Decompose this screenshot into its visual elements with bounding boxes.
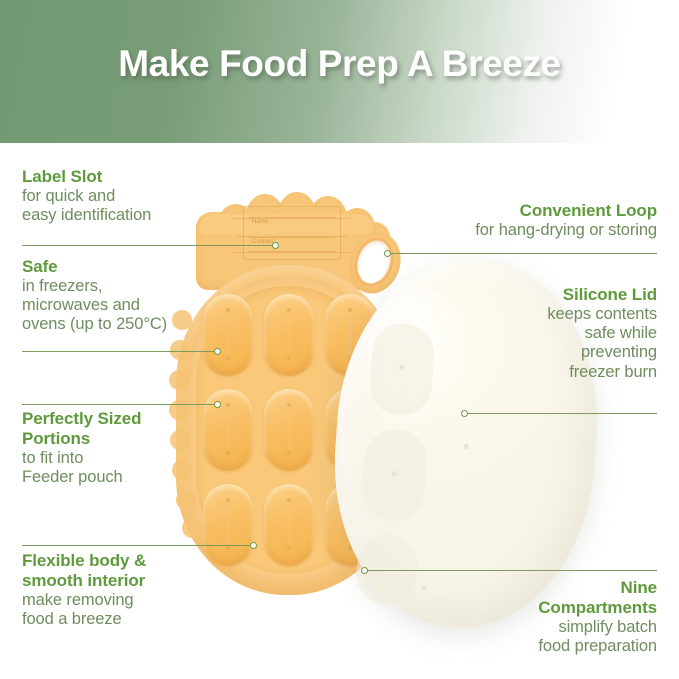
callout-title: Nine — [357, 578, 657, 598]
compartment-cell — [264, 294, 314, 376]
callout-convenient-loop: Convenient Loop for hang-drying or stori… — [357, 201, 657, 240]
callout-silicone-lid: Silicone Lid keeps contents safe while p… — [357, 285, 657, 382]
leader-dot-lid — [461, 410, 468, 417]
callout-line: for quick and — [22, 187, 252, 206]
callout-flexible-body: Flexible body & smooth interior make rem… — [22, 551, 262, 629]
callout-title-2: Compartments — [357, 598, 657, 618]
compartment-cell — [264, 389, 314, 471]
callout-line: ovens (up to 250°C) — [22, 315, 262, 334]
callout-safe: Safe in freezers, microwaves and ovens (… — [22, 257, 262, 335]
callout-line: simplify batch — [357, 618, 657, 637]
label-slot-name-text: Name — [252, 219, 268, 225]
leader-line-compartments — [366, 570, 657, 571]
callout-title-2: Portions — [22, 429, 262, 449]
callout-line: safe while — [357, 324, 657, 343]
leader-dot-loop — [384, 250, 391, 257]
leader-dot-label-slot — [272, 242, 279, 249]
callout-label-slot: Label Slot for quick and easy identifica… — [22, 167, 252, 225]
callout-line: make removing — [22, 591, 262, 610]
callout-title: Convenient Loop — [357, 201, 657, 221]
callout-nine-compartments: Nine Compartments simplify batch food pr… — [357, 578, 657, 656]
leader-dot-compartments — [361, 567, 368, 574]
leader-line-loop — [388, 253, 657, 254]
infographic-canvas: Make Food Prep A Breeze Name Content — [0, 0, 679, 679]
callout-title: Flexible body & — [22, 551, 262, 571]
leader-line-flexible — [22, 545, 254, 546]
leader-line-lid — [466, 413, 657, 414]
callout-line: food preparation — [357, 637, 657, 656]
callout-line: to fit into — [22, 449, 262, 468]
leader-line-portions — [22, 404, 218, 405]
callout-line: easy identification — [22, 206, 252, 225]
callout-title: Perfectly Sized — [22, 409, 262, 429]
callout-line: microwaves and — [22, 296, 262, 315]
callout-line: Feeder pouch — [22, 468, 262, 487]
header-banner: Make Food Prep A Breeze — [0, 0, 679, 143]
compartment-cell — [264, 484, 314, 566]
leader-dot-flexible — [250, 542, 257, 549]
callout-title-2: smooth interior — [22, 571, 262, 591]
callout-line: freezer burn — [357, 363, 657, 382]
callout-line: food a breeze — [22, 610, 262, 629]
callout-title: Silicone Lid — [357, 285, 657, 305]
leader-dot-safe — [214, 348, 221, 355]
leader-line-label-slot — [22, 245, 276, 246]
callout-line: in freezers, — [22, 277, 262, 296]
callout-perfectly-sized-portions: Perfectly Sized Portions to fit into Fee… — [22, 409, 262, 487]
callout-line: keeps contents — [357, 305, 657, 324]
callout-line: preventing — [357, 343, 657, 362]
callout-title: Label Slot — [22, 167, 252, 187]
leader-line-safe — [22, 351, 218, 352]
leader-dot-portions — [214, 401, 221, 408]
callout-line: for hang-drying or storing — [357, 221, 657, 240]
page-title: Make Food Prep A Breeze — [0, 43, 679, 85]
callout-title: Safe — [22, 257, 262, 277]
